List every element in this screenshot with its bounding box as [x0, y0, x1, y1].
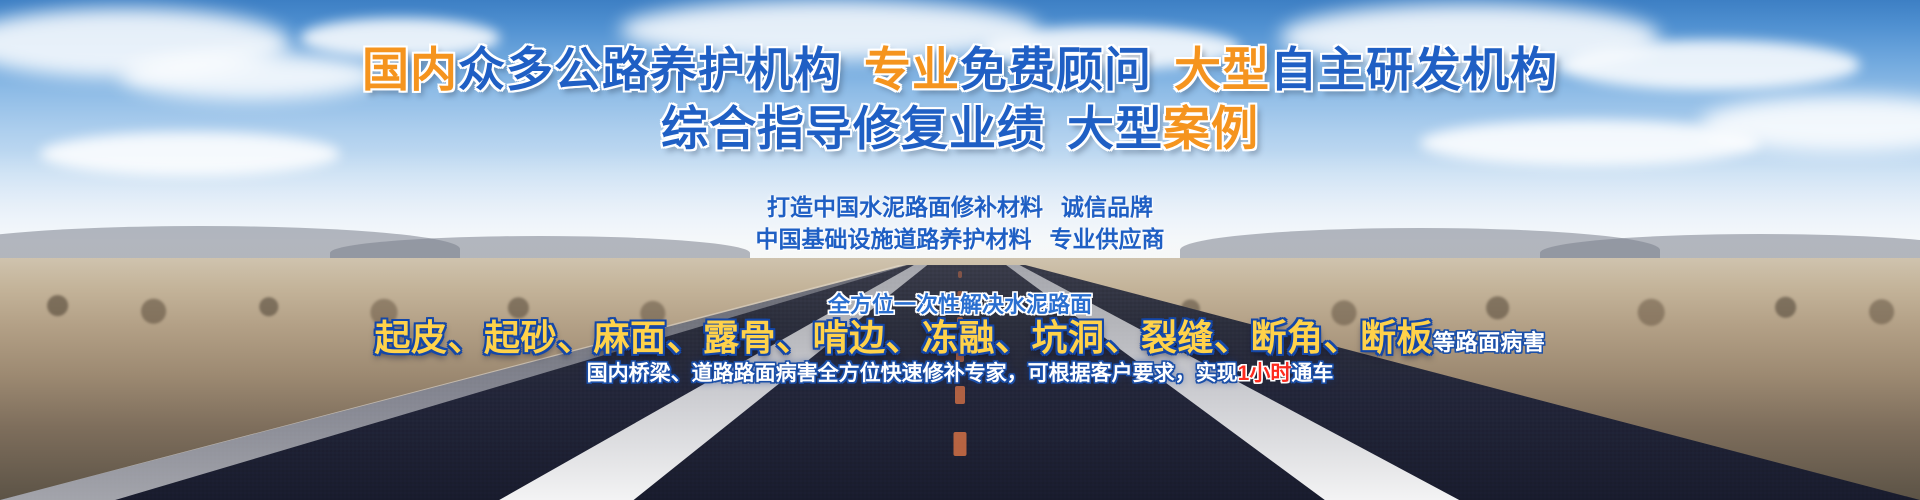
subhead-line-1: 打造中国水泥路面修补材料诚信品牌 [0, 192, 1920, 223]
text-overlay: 国内众多公路养护机构专业免费顾问大型自主研发机构 综合指导修复业绩大型案例 打造… [0, 0, 1920, 500]
subhead-2a: 中国基础设施道路养护材料 [756, 226, 1032, 252]
disease-names: 起皮、起砂、麻面、露骨、啃边、冻融、坑洞、裂缝、断角、断板 [374, 316, 1433, 360]
promo-banner: 国内众多公路养护机构专业免费顾问大型自主研发机构 综合指导修复业绩大型案例 打造… [0, 0, 1920, 500]
subhead-1a: 打造中国水泥路面修补材料 [767, 194, 1043, 220]
bottom-3a: 国内桥梁、道路路面病害全方位快速修补专家，可根据客户要求，实现 [587, 362, 1238, 385]
subhead-line-2: 中国基础设施道路养护材料专业供应商 [0, 224, 1920, 255]
headline-line-2: 综合指导修复业绩大型案例 [0, 101, 1920, 157]
headline-seg-daxing: 大型 [1174, 42, 1270, 98]
bottom-line-1: 全方位一次性解决水泥路面 [0, 291, 1920, 319]
bottom-highlight-1hour: 1小时 [1238, 362, 1292, 385]
headline-seg-zhuanye: 专业 [864, 42, 960, 98]
bottom-disease-list: 起皮、起砂、麻面、露骨、啃边、冻融、坑洞、裂缝、断角、断板等路面病害 [0, 316, 1920, 365]
headline-seg-anli: 案例 [1163, 101, 1259, 157]
headline-seg-zizhu: 自主研发机构 [1270, 42, 1558, 98]
headline-line-1: 国内众多公路养护机构专业免费顾问大型自主研发机构 [0, 42, 1920, 98]
bottom-line-3: 国内桥梁、道路路面病害全方位快速修补专家，可根据客户要求，实现1小时通车 [0, 360, 1920, 388]
headline-seg-zonghe: 综合指导修复业绩 [661, 101, 1045, 157]
headline-seg-guonei: 国内 [362, 42, 458, 98]
headline-seg-zhongduo: 众多公路养护机构 [458, 42, 842, 98]
bottom-3b: 通车 [1291, 362, 1333, 385]
headline-seg-mianfei: 免费顾问 [960, 42, 1152, 98]
subhead-1b: 诚信品牌 [1061, 194, 1153, 220]
headline-seg-daxing2: 大型 [1067, 101, 1163, 157]
disease-tail: 等路面病害 [1433, 321, 1546, 365]
subhead-2b: 专业供应商 [1050, 226, 1165, 252]
